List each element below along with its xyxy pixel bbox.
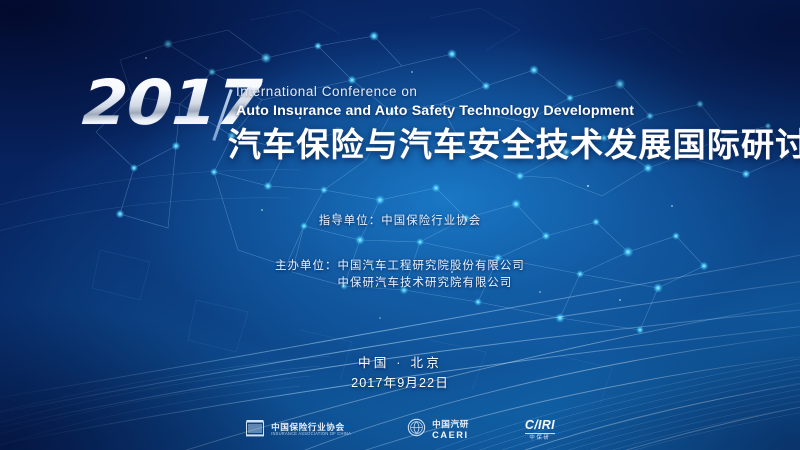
event-date: 2017年9月22日 — [0, 372, 800, 391]
organiser-value: 中保研汽车技术研究院有限公司 — [338, 276, 525, 291]
logo-ciri: C/IRI 中保研 — [525, 419, 555, 441]
organiser-value: 中国汽车工程研究院股份有限公司 — [338, 259, 525, 274]
ciri-logo-cn: 中保研 — [529, 436, 550, 441]
caeri-logo-cn: 中国汽研 — [432, 420, 469, 430]
iac-emblem-icon — [245, 418, 265, 443]
organisers-block: 指导单位： 中国保险行业协会 主办单位： 中国汽车工程研究院股份有限公司 中保研… — [0, 214, 800, 291]
caeri-emblem-icon — [407, 418, 426, 442]
event-location: 中国 · 北京 — [0, 352, 800, 371]
ciri-logo-text: C/IRI 中保研 — [525, 419, 555, 441]
footer-logo-bar: 中国保险行业协会 INSURANCE ASSOCIATION OF CHINA … — [0, 414, 800, 446]
iac-logo-text: 中国保险行业协会 INSURANCE ASSOCIATION OF CHINA — [271, 423, 351, 438]
organiser-label-host: 主办单位： — [275, 259, 337, 274]
organiser-row-guidance: 指导单位： 中国保险行业协会 — [0, 214, 800, 229]
organiser-values-host: 中国汽车工程研究院股份有限公司 中保研汽车技术研究院有限公司 — [338, 259, 525, 291]
chinese-title: 汽车保险与汽车安全技术发展国际研讨会 — [228, 126, 800, 164]
organiser-value: 中国保险行业协会 — [381, 214, 481, 229]
organiser-row-host: 主办单位： 中国汽车工程研究院股份有限公司 中保研汽车技术研究院有限公司 — [0, 259, 800, 291]
english-title-line2: Auto Insurance and Auto Safety Technolog… — [236, 102, 634, 120]
caeri-logo-text: 中国汽研 CAERI — [432, 420, 469, 440]
english-title-line1: International Conference on — [236, 84, 634, 101]
conference-banner: 2017 International Conference on Auto In… — [0, 0, 800, 450]
iac-logo-en: INSURANCE ASSOCIATION OF CHINA — [271, 432, 351, 437]
logo-iachina: 中国保险行业协会 INSURANCE ASSOCIATION OF CHINA — [245, 418, 351, 443]
caeri-logo-en: CAERI — [432, 430, 469, 441]
organiser-values-guidance: 中国保险行业协会 — [381, 214, 481, 229]
logo-caeri: 中国汽研 CAERI — [407, 418, 469, 442]
english-title-block: International Conference on Auto Insuran… — [236, 84, 634, 120]
organiser-label-guidance: 指导单位： — [319, 214, 381, 229]
ciri-logo-en: C/IRI — [525, 419, 555, 432]
